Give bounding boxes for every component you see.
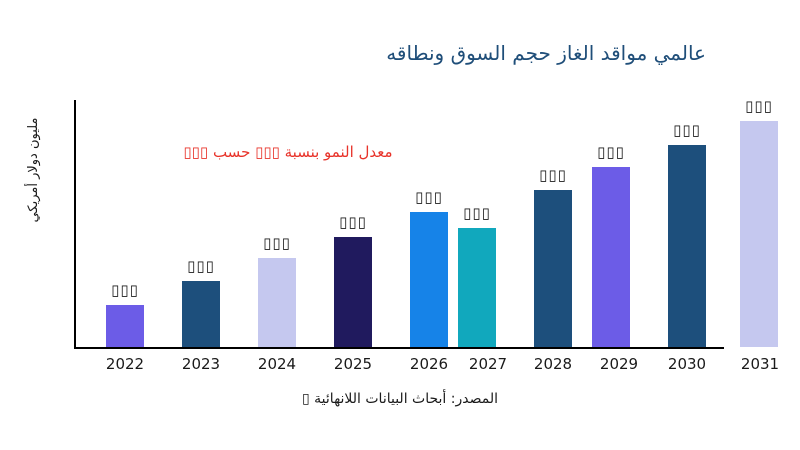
x-tick-label-2023: 2023 <box>161 355 241 373</box>
x-tick-label-2031: 2031 <box>720 355 800 373</box>
bar-2022[interactable] <box>106 305 144 347</box>
bar-2026[interactable] <box>410 212 448 347</box>
bar-value-label-2025: ▯▯▯ <box>313 213 393 231</box>
source-note: المصدر: أبحاث البيانات اللانهائية ▯ <box>150 387 650 411</box>
bar-value-label-2030: ▯▯▯ <box>647 121 727 139</box>
growth-rate-annotation: معدل النمو بنسبة ▯▯▯ حسب ▯▯▯ <box>140 140 436 164</box>
bar-value-label-2028: ▯▯▯ <box>513 166 593 184</box>
bar-2027[interactable] <box>458 228 496 347</box>
x-tick-label-2030: 2030 <box>647 355 727 373</box>
bar-2023[interactable] <box>182 281 220 347</box>
bar-2028[interactable] <box>534 190 572 347</box>
bar-value-label-2029: ▯▯▯ <box>571 143 651 161</box>
x-tick-label-2025: 2025 <box>313 355 393 373</box>
bar-chart: عالمي مواقد الغاز حجم السوق ونطاقه مليون… <box>0 0 800 450</box>
x-tick-label-2024: 2024 <box>237 355 317 373</box>
bar-2031[interactable] <box>740 121 778 347</box>
bar-value-label-2022: ▯▯▯ <box>85 281 165 299</box>
bar-2030[interactable] <box>668 145 706 347</box>
bar-value-label-2024: ▯▯▯ <box>237 234 317 252</box>
bar-2029[interactable] <box>592 167 630 347</box>
plot-area: ▯▯▯2022▯▯▯2023▯▯▯2024▯▯▯2025▯▯▯2026▯▯▯20… <box>0 0 800 450</box>
bar-value-label-2031: ▯▯▯ <box>719 97 799 115</box>
bar-value-label-2023: ▯▯▯ <box>161 257 241 275</box>
bar-2025[interactable] <box>334 237 372 347</box>
bar-2024[interactable] <box>258 258 296 347</box>
x-tick-label-2022: 2022 <box>85 355 165 373</box>
bar-value-label-2027: ▯▯▯ <box>437 204 517 222</box>
